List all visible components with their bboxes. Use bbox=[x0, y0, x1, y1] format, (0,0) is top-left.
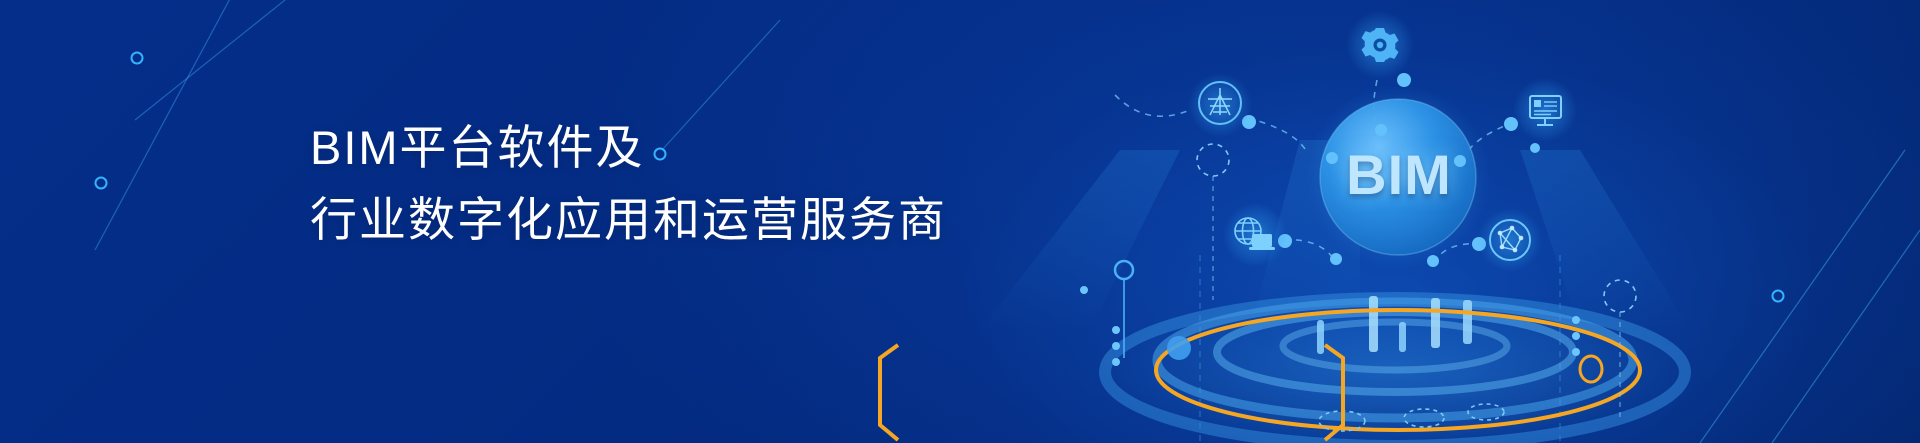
marker-dot bbox=[1112, 342, 1120, 350]
bim-illustration bbox=[0, 0, 1920, 443]
connector-aux bbox=[1115, 95, 1190, 116]
hero-banner: BIM平台软件及 行业数字化应用和运营服务商 bbox=[0, 0, 1920, 443]
connector-dot bbox=[1375, 124, 1387, 136]
sphere-body bbox=[1320, 99, 1476, 255]
dashed-marker-ring bbox=[1604, 280, 1636, 312]
connector-dot bbox=[1530, 143, 1540, 153]
network-dot bbox=[1500, 245, 1505, 250]
marker-bubble bbox=[1167, 336, 1191, 360]
marker-dot bbox=[1572, 332, 1580, 340]
marker-dot bbox=[1572, 348, 1580, 356]
monitor-block bbox=[1534, 100, 1541, 107]
connector-dot bbox=[1397, 73, 1411, 87]
illustration-svg bbox=[0, 0, 1920, 443]
network-dot bbox=[1510, 226, 1515, 231]
connector-dot bbox=[1427, 255, 1439, 267]
connector-power-tower bbox=[1248, 118, 1307, 152]
bim-sphere bbox=[1306, 85, 1490, 269]
data-bar bbox=[1317, 320, 1324, 354]
network-dot bbox=[1513, 248, 1518, 253]
power-tower-node bbox=[1188, 73, 1252, 137]
connector-dot bbox=[1326, 152, 1338, 164]
data-bar bbox=[1431, 298, 1440, 348]
network-dot bbox=[1519, 236, 1524, 241]
marker-dot bbox=[1572, 316, 1580, 324]
gear-center bbox=[1377, 42, 1383, 48]
network-dot bbox=[1498, 231, 1503, 236]
dashed-ring bbox=[1197, 144, 1229, 176]
marker-dot bbox=[1112, 358, 1120, 366]
bracket-left bbox=[880, 345, 898, 440]
dashed-node-upper-left bbox=[1197, 144, 1229, 300]
laptop-icon bbox=[1249, 234, 1275, 250]
globe-laptop-node bbox=[1223, 203, 1287, 267]
laptop-base bbox=[1249, 247, 1275, 250]
monitor-node bbox=[1513, 78, 1577, 142]
node-glow bbox=[1513, 78, 1577, 142]
data-bar bbox=[1463, 300, 1472, 344]
gear-node bbox=[1346, 11, 1414, 79]
connector-dot bbox=[1454, 155, 1466, 167]
data-bar bbox=[1399, 322, 1406, 352]
marker-dot bbox=[1112, 326, 1120, 334]
data-bar bbox=[1369, 296, 1378, 352]
marker-ring bbox=[1115, 261, 1133, 279]
connector-dot bbox=[1330, 253, 1342, 265]
node-glow bbox=[1478, 208, 1542, 272]
network-node bbox=[1478, 208, 1542, 272]
marker-dot bbox=[1080, 286, 1088, 294]
laptop-screen bbox=[1252, 234, 1272, 247]
